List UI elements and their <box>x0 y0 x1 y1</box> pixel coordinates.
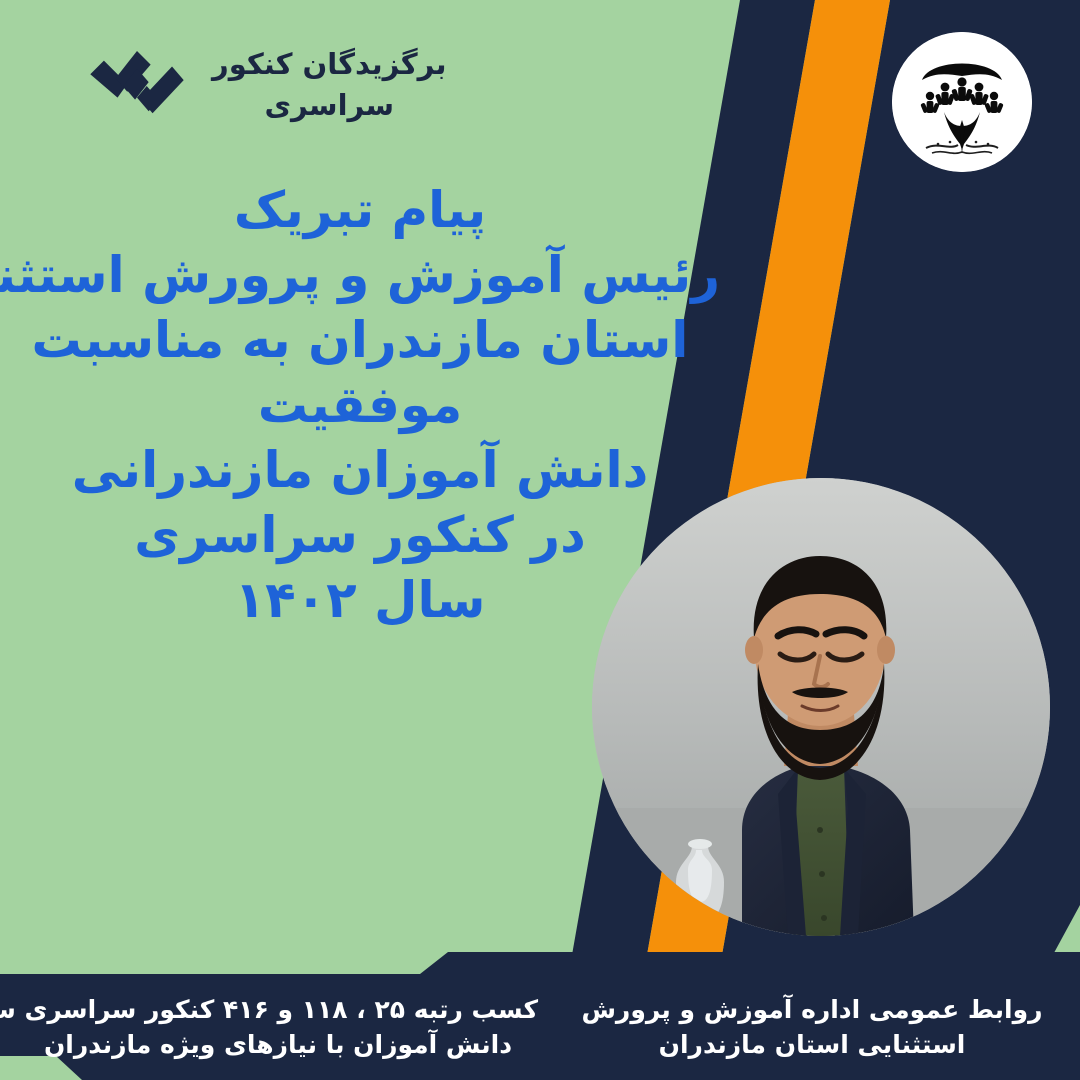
poster-canvas: برگزیدگان کنکور سراسری <box>0 0 1080 1080</box>
headline-line-2: رئیس آموزش و پرورش استثنایی <box>0 243 720 308</box>
headline-line-1: پیام تبریک <box>0 178 720 243</box>
footer-achievement-left: کسب رتبه ۲۵ ، ۱۱۸ و ۴۱۶ کنکور سراسری سهم… <box>18 992 538 1062</box>
headline-line-5: دانش آموزان مازندرانی <box>0 438 720 503</box>
exceptional-education-emblem-icon <box>892 32 1032 172</box>
brand-text: برگزیدگان کنکور سراسری <box>212 44 447 126</box>
footer-right-line-2: استثنایی استان مازندران <box>572 1027 1052 1062</box>
footer-credit-right: روابط عمومی اداره آموزش و پرورش استثنایی… <box>572 992 1052 1062</box>
brand-line-1: برگزیدگان کنکور <box>212 44 447 85</box>
headline-block: پیام تبریک رئیس آموزش و پرورش استثنایی ا… <box>0 178 720 633</box>
brand-line-2: سراسری <box>212 85 447 126</box>
headline-line-7: سال ۱۴۰۲ <box>0 568 720 633</box>
chevron-w-logo-icon <box>88 49 186 121</box>
headline-line-6: در کنکور سراسری <box>0 503 720 568</box>
headline-line-4: موفقیت <box>0 373 720 438</box>
headline-line-3: استان مازندران به مناسبت <box>0 308 720 373</box>
footer-bar: روابط عمومی اداره آموزش و پرورش استثنایی… <box>0 952 1080 1080</box>
footer-right-line-1: روابط عمومی اداره آموزش و پرورش <box>572 992 1052 1027</box>
footer-left-line-2: دانش آموزان با نیازهای ویژه مازندران <box>18 1027 538 1062</box>
brand-lockup: برگزیدگان کنکور سراسری <box>88 44 447 126</box>
footer-left-line-1: کسب رتبه ۲۵ ، ۱۱۸ و ۴۱۶ کنکور سراسری سهم <box>18 992 538 1027</box>
